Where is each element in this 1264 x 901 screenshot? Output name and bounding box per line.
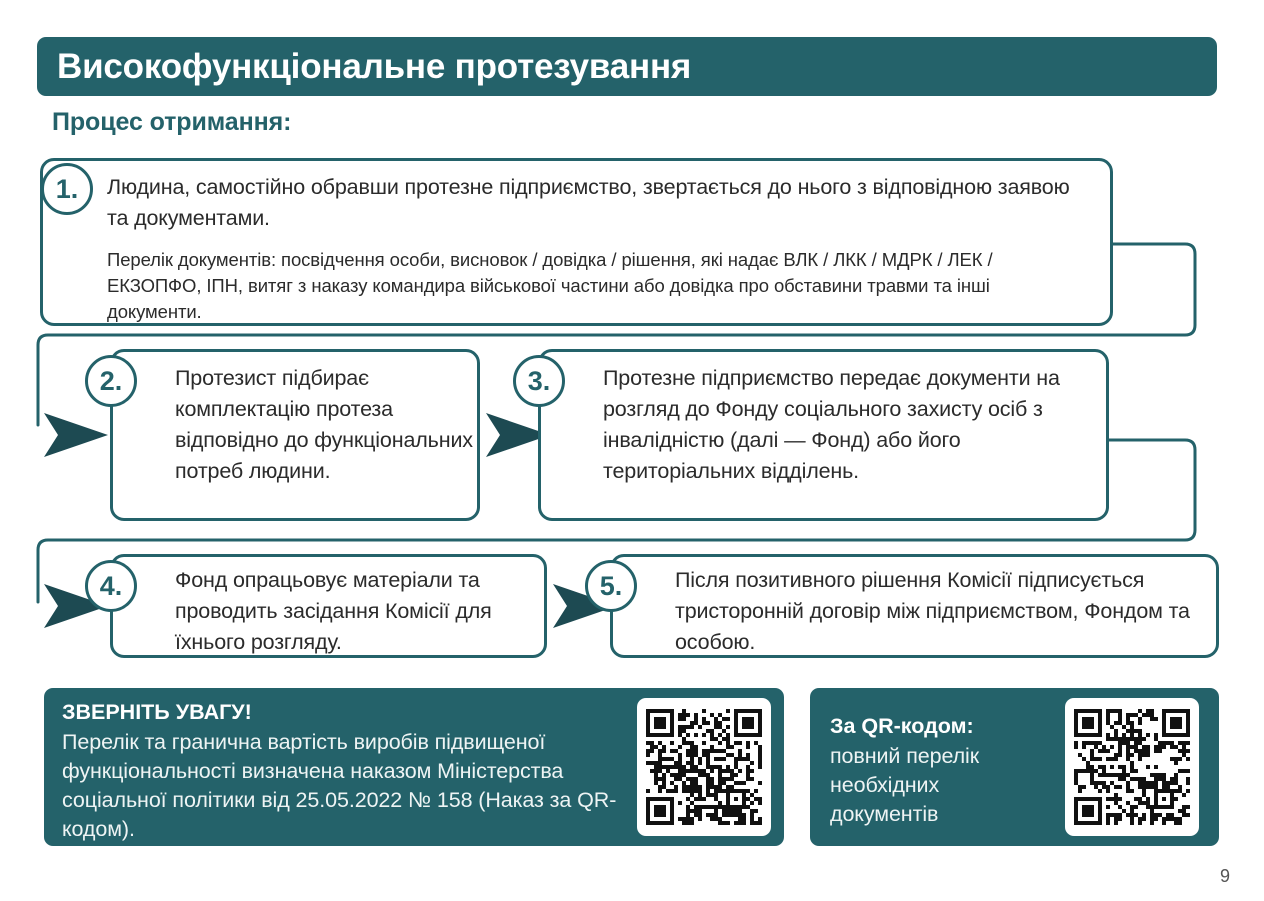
qr-panel-text: повний перелік необхідних документів [830,742,1020,829]
attention-notice-heading: ЗВЕРНІТЬ УВАГУ! [62,700,252,725]
step-number-badge-5: 5. [585,560,637,612]
arrowhead-into-step-2 [44,413,108,457]
step-1-subtext: Перелік документів: посвідчення особи, в… [107,247,1087,325]
slide-canvas: Високофункціональне протезування Процес … [0,0,1264,901]
qr-code-icon-order[interactable] [637,698,771,836]
step-number-badge-3: 3. [513,355,565,407]
qr-code-icon-documents[interactable] [1065,698,1199,836]
step-number-badge-1: 1. [41,163,93,215]
attention-notice-text: Перелік та гранична вартість виробів під… [62,728,642,844]
step-3-text: Протезне підприємство передає документи … [603,363,1103,487]
page-number: 9 [1220,866,1230,887]
attention-notice-panel: ЗВЕРНІТЬ УВАГУ! Перелік та гранична варт… [44,688,784,846]
step-1-text: Людина, самостійно обравши протезне підп… [107,172,1087,234]
slide-header: Високофункціональне протезування [37,37,1217,96]
step-card-5: Після позитивного рішення Комісії підпис… [610,554,1219,658]
step-card-4: Фонд опрацьовує матеріали та проводить з… [110,554,547,658]
section-subtitle: Процес отримання: [52,108,291,137]
step-number-badge-4: 4. [85,560,137,612]
step-number-badge-2: 2. [85,355,137,407]
step-1-content: Людина, самостійно обравши протезне підп… [107,172,1087,325]
step-5-text: Після позитивного рішення Комісії підпис… [675,565,1215,658]
step-card-2: Протезист підбирає комплектацію протеза … [110,349,480,521]
step-4-text: Фонд опрацьовує матеріали та проводить з… [175,565,545,658]
qr-panel-heading: За QR-кодом: [830,714,974,739]
qr-documents-panel: За QR-кодом: повний перелік необхідних д… [810,688,1219,846]
step-2-text: Протезист підбирає комплектацію протеза … [175,363,475,487]
step-card-1: Людина, самостійно обравши протезне підп… [40,158,1113,326]
step-card-3: Протезне підприємство передає документи … [538,349,1109,521]
page-title: Високофункціональне протезування [57,47,691,87]
